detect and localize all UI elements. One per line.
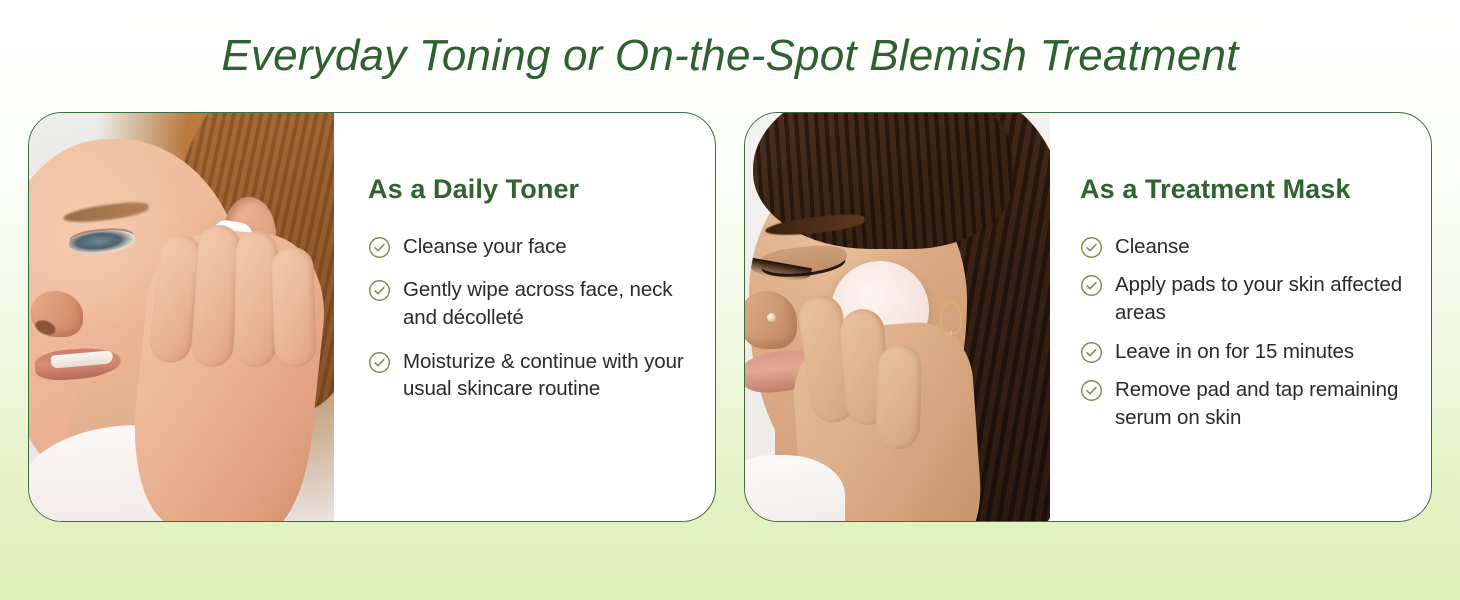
- benefit-text: Cleanse your face: [403, 233, 567, 261]
- photo-daily-toner: [29, 113, 334, 521]
- benefit-text: Gently wipe across face, neck and décoll…: [403, 276, 689, 331]
- list-item: Leave in on for 15 minutes: [1080, 338, 1405, 366]
- card-body-treatment-mask: As a Treatment Mask Cleanse Apply pads t…: [1050, 113, 1431, 521]
- benefit-list-treatment-mask: Cleanse Apply pads to your skin affected…: [1080, 233, 1405, 432]
- check-circle-icon: [368, 351, 391, 374]
- list-item: Gently wipe across face, neck and décoll…: [368, 276, 689, 331]
- check-circle-icon: [368, 236, 391, 259]
- card-daily-toner: As a Daily Toner Cleanse your face Gentl…: [28, 112, 716, 522]
- benefit-text: Moisturize & continue with your usual sk…: [403, 348, 689, 403]
- check-circle-icon: [1080, 379, 1103, 402]
- list-item: Cleanse your face: [368, 233, 689, 261]
- card-treatment-mask: As a Treatment Mask Cleanse Apply pads t…: [744, 112, 1432, 522]
- list-item: Cleanse: [1080, 233, 1405, 261]
- card-heading-daily-toner: As a Daily Toner: [368, 175, 689, 205]
- benefit-list-daily-toner: Cleanse your face Gently wipe across fac…: [368, 233, 689, 403]
- card-body-daily-toner: As a Daily Toner Cleanse your face Gentl…: [334, 113, 715, 521]
- benefit-text: Cleanse: [1115, 233, 1190, 261]
- check-circle-icon: [1080, 274, 1103, 297]
- page-title: Everyday Toning or On-the-Spot Blemish T…: [0, 0, 1460, 78]
- check-circle-icon: [1080, 341, 1103, 364]
- benefit-text: Apply pads to your skin affected areas: [1115, 271, 1405, 326]
- photo-treatment-mask: [745, 113, 1050, 521]
- cards-row: As a Daily Toner Cleanse your face Gentl…: [0, 112, 1460, 522]
- list-item: Remove pad and tap remaining serum on sk…: [1080, 376, 1405, 431]
- benefit-text: Remove pad and tap remaining serum on sk…: [1115, 376, 1405, 431]
- check-circle-icon: [368, 279, 391, 302]
- benefit-text: Leave in on for 15 minutes: [1115, 338, 1354, 366]
- list-item: Apply pads to your skin affected areas: [1080, 271, 1405, 326]
- card-heading-treatment-mask: As a Treatment Mask: [1080, 175, 1405, 205]
- check-circle-icon: [1080, 236, 1103, 259]
- list-item: Moisturize & continue with your usual sk…: [368, 348, 689, 403]
